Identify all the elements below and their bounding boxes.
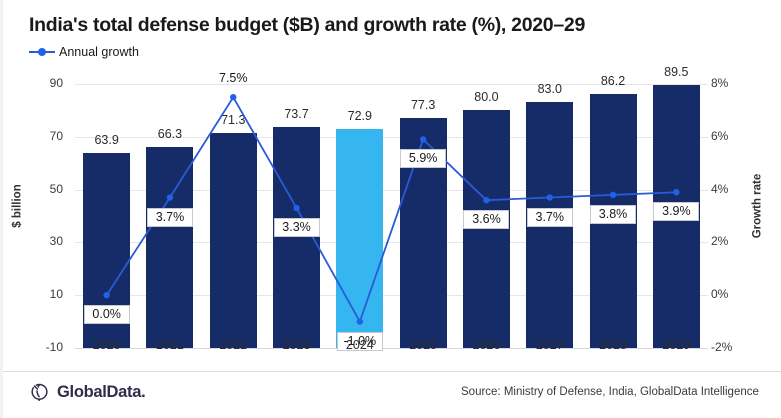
growth-rate-label: 3.8%: [590, 205, 636, 224]
x-axis-tick: 2022: [202, 338, 265, 352]
x-axis-tick: 2026: [455, 338, 518, 352]
line-data-point[interactable]: [230, 94, 236, 100]
source-note: Source: Ministry of Defense, India, Glob…: [461, 386, 759, 398]
line-data-point[interactable]: [547, 194, 553, 200]
growth-rate-label: 3.7%: [527, 208, 573, 227]
line-data-point[interactable]: [357, 318, 363, 324]
line-data-point[interactable]: [610, 192, 616, 198]
globaldata-logo: GlobalData.: [29, 382, 145, 403]
x-axis-tick: 2024: [328, 338, 391, 352]
line-data-point[interactable]: [673, 189, 679, 195]
growth-rate-label: 3.9%: [653, 202, 699, 221]
x-axis-tick: 2025: [392, 338, 455, 352]
x-axis-tick: 2028: [581, 338, 644, 352]
line-data-point[interactable]: [420, 136, 426, 142]
growth-rate-label: 3.7%: [147, 208, 193, 227]
line-data-point[interactable]: [167, 194, 173, 200]
line-data-point[interactable]: [103, 292, 109, 298]
chart-card: India's total defense budget ($B) and gr…: [0, 0, 781, 418]
growth-rate-label: 0.0%: [84, 305, 130, 324]
brand-name: GlobalData.: [57, 383, 145, 402]
growth-rate-label: 3.6%: [463, 210, 509, 229]
x-axis-tick: 2020: [75, 338, 138, 352]
x-axis-tick: 2029: [645, 338, 708, 352]
chart-footer: GlobalData. Source: Ministry of Defense,…: [3, 372, 781, 418]
globaldata-mark-icon: [29, 382, 50, 403]
x-axis-tick: 2021: [138, 338, 201, 352]
growth-rate-label: 5.9%: [400, 149, 446, 168]
x-axis-tick: 2027: [518, 338, 581, 352]
growth-rate-label: 7.5%: [210, 71, 256, 85]
line-data-point[interactable]: [483, 197, 489, 203]
chart-plot-area: $ billion Growth rate 908%706%504%302%10…: [3, 0, 781, 372]
growth-rate-label: 3.3%: [274, 218, 320, 237]
line-data-point[interactable]: [293, 205, 299, 211]
x-axis-tick: 2023: [265, 338, 328, 352]
